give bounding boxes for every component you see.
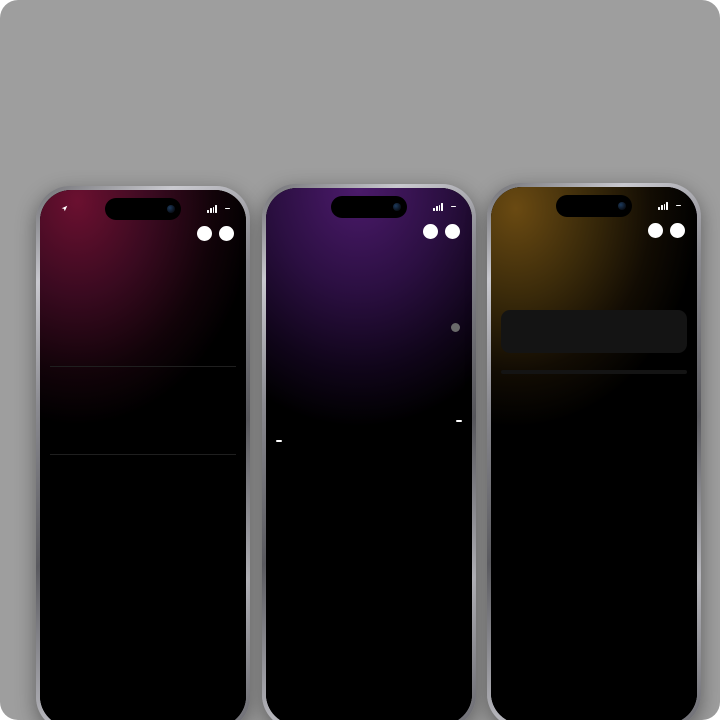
signal-bars-icon	[207, 205, 217, 213]
info-icon[interactable]	[219, 226, 234, 241]
readings-card	[501, 370, 687, 374]
nav-bar	[266, 218, 472, 242]
nav-bar	[40, 220, 246, 244]
headings-row	[0, 0, 720, 178]
steps-bar-chart	[48, 315, 238, 357]
info-icon[interactable]	[445, 224, 460, 239]
hypnogram-chart[interactable]	[272, 328, 466, 446]
sleep-stages-list	[266, 311, 472, 318]
heading-column-movement	[0, 0, 240, 178]
info-icon[interactable]	[670, 223, 685, 238]
phone-movement-index	[36, 186, 250, 720]
screen-movement	[40, 190, 246, 720]
signal-bars-icon	[658, 202, 668, 210]
active-hours-bar-chart	[48, 463, 238, 489]
hero-score-recovery[interactable]	[491, 241, 697, 245]
nav-bar	[491, 217, 697, 241]
perceived-recovery-card[interactable]	[501, 310, 687, 353]
hero-score-movement[interactable]	[40, 244, 246, 248]
share-icon[interactable]	[648, 223, 663, 238]
hypnogram-start-time	[276, 440, 282, 442]
signal-bars-icon	[433, 203, 443, 211]
dynamic-island	[556, 195, 632, 217]
screen-sleep	[266, 188, 472, 720]
phone-recovery-score	[487, 183, 701, 720]
weekly-trend-chart-movement[interactable]	[46, 251, 240, 307]
phone-sleep-index	[262, 184, 476, 720]
front-camera-icon	[618, 202, 626, 210]
front-camera-icon	[393, 203, 401, 211]
hypnogram-end-time	[456, 420, 462, 422]
dynamic-island	[105, 198, 181, 220]
status-time-group	[58, 205, 68, 212]
front-camera-icon	[167, 205, 175, 213]
share-icon[interactable]	[423, 224, 438, 239]
share-icon[interactable]	[197, 226, 212, 241]
perceived-recovery-slider[interactable]	[510, 325, 678, 343]
readings-title	[491, 353, 697, 363]
battery-level	[451, 206, 456, 207]
battery-level	[676, 205, 681, 206]
promo-page	[0, 0, 720, 720]
location-arrow-icon	[61, 205, 68, 212]
time-in-bed-section	[266, 318, 472, 322]
screen-recovery	[491, 187, 697, 720]
heading-column-recovery	[480, 0, 720, 178]
activity-bar-chart	[48, 403, 238, 445]
activity-section[interactable]	[40, 367, 246, 399]
dynamic-island	[331, 196, 407, 218]
battery-level	[225, 208, 230, 209]
weekly-trend-chart-sleep[interactable]	[272, 249, 466, 305]
active-hours-section[interactable]	[40, 455, 246, 461]
heading-column-sleep	[240, 0, 480, 178]
activity-value-group	[54, 373, 232, 399]
hero-score-sleep[interactable]	[266, 242, 472, 246]
weekly-trend-chart-recovery[interactable]	[497, 248, 691, 304]
steps-section[interactable]	[40, 305, 246, 311]
